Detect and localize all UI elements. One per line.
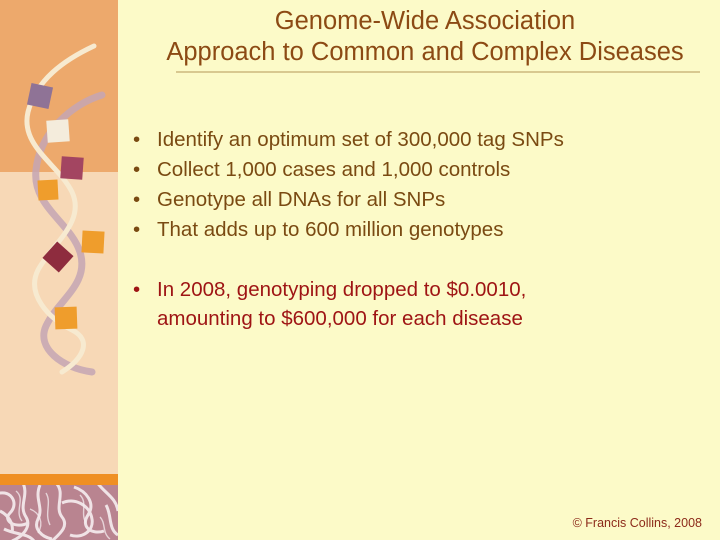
sidebar-decoration [0, 0, 118, 540]
bullet-item: • Collect 1,000 cases and 1,000 controls [128, 155, 703, 184]
highlight-text-line-2: amounting to $600,000 for each disease [157, 304, 703, 333]
slide-title: Genome-Wide Association Approach to Comm… [140, 6, 710, 68]
dna-helix-decoration [0, 0, 118, 474]
title-line-2: Approach to Common and Complex Diseases [140, 37, 710, 68]
bullet-text: That adds up to 600 million genotypes [157, 218, 503, 241]
bullet-item: • Genotype all DNAs for all SNPs [128, 185, 703, 214]
bullet-item-highlight: • In 2008, genotyping dropped to $0.0010… [128, 275, 703, 333]
bullet-marker-icon: • [133, 125, 140, 154]
title-divider [176, 71, 700, 73]
bullet-list: • Identify an optimum set of 300,000 tag… [128, 125, 703, 334]
bullet-item: • Identify an optimum set of 300,000 tag… [128, 125, 703, 154]
bullet-marker-icon: • [133, 155, 140, 184]
bullet-spacer [128, 245, 703, 275]
highlight-text-line-1: In 2008, genotyping dropped to $0.0010, [157, 278, 526, 301]
helix-node-orange-1 [37, 179, 58, 200]
helix-node-magenta [60, 156, 83, 179]
bullet-marker-icon: • [133, 215, 140, 244]
bullet-marker-icon: • [133, 275, 140, 304]
title-line-1: Genome-Wide Association [140, 6, 710, 37]
bullet-text: Identify an optimum set of 300,000 tag S… [157, 128, 564, 151]
bullet-marker-icon: • [133, 185, 140, 214]
bullet-text: Genotype all DNAs for all SNPs [157, 188, 445, 211]
filigree-pattern [0, 485, 118, 540]
helix-node-orange-3 [55, 307, 78, 330]
copyright-credit: © Francis Collins, 2008 [573, 516, 702, 531]
helix-node-darkred [42, 241, 73, 272]
bullet-item: • That adds up to 600 million genotypes [128, 215, 703, 244]
helix-node-orange-2 [81, 230, 104, 253]
bullet-text: Collect 1,000 cases and 1,000 controls [157, 158, 510, 181]
helix-node-cream [46, 119, 69, 142]
helix-node-purple [27, 83, 53, 109]
sidebar-filigree-panel [0, 485, 118, 540]
slide-canvas: Genome-Wide Association Approach to Comm… [0, 0, 720, 540]
sidebar-orange-band [0, 474, 118, 485]
